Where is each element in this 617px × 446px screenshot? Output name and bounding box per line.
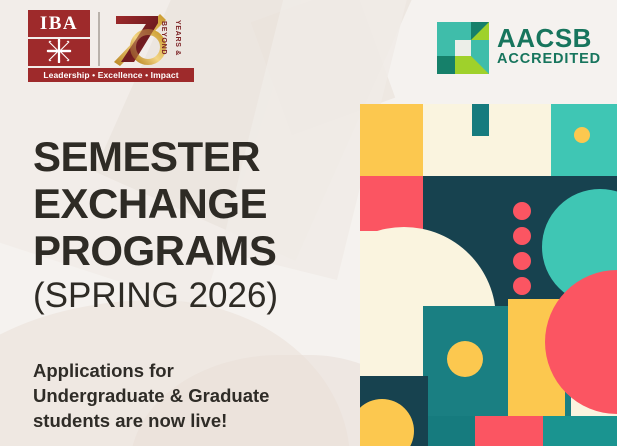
iba-letters: IBA <box>40 14 78 33</box>
iba-tagline: Leadership • Excellence • Impact <box>28 68 194 82</box>
aacsb-text-block: AACSB ACCREDITED <box>497 25 601 68</box>
geometric-collage-artwork <box>360 104 617 446</box>
headline-block: SEMESTER EXCHANGE PROGRAMS (SPRING 2026) <box>33 133 353 318</box>
aacsb-title: AACSB <box>497 25 601 51</box>
collage-shape-yellow-circle-mid <box>447 341 483 377</box>
headline-term-label: (SPRING 2026) <box>33 274 353 318</box>
collage-shape-teal-bottom-right <box>543 416 617 446</box>
aacsb-subtitle: ACCREDITED <box>497 51 601 68</box>
aacsb-square-mark-icon <box>437 22 489 74</box>
collage-shape-teal-small-vertical <box>472 104 489 136</box>
iba-logo-box: IBA <box>28 10 90 66</box>
iba-letters-cell: IBA <box>28 10 90 39</box>
collage-shape-teal-bottom-strip <box>428 416 475 446</box>
collage-shape-coral-dot-3 <box>513 252 531 270</box>
iba-emblem-cell <box>28 39 90 68</box>
collage-shape-coral-dot-2 <box>513 227 531 245</box>
headline-line-3: PROGRAMS <box>33 227 353 274</box>
collage-shape-coral-dot-1 <box>513 202 531 220</box>
logo-divider <box>98 12 100 66</box>
anniversary-years-text: YEARS & BEYOND <box>170 11 184 66</box>
poster-canvas: IBA <box>0 0 617 446</box>
headline-line-1: SEMESTER <box>33 133 353 180</box>
collage-shape-yellow-top-left <box>360 104 423 176</box>
iba-star-emblem-icon <box>46 39 72 68</box>
collage-shape-yellow-dot-small <box>574 127 590 143</box>
headline-line-2: EXCHANGE <box>33 180 353 227</box>
body-copy-block: Applications for Undergraduate & Graduat… <box>33 358 343 433</box>
body-copy-line-2: Undergraduate & Graduate <box>33 383 343 408</box>
body-copy-line-3: students are now live! <box>33 408 343 433</box>
iba-logo: IBA <box>28 10 196 82</box>
aacsb-accredited-badge: AACSB ACCREDITED <box>437 22 602 78</box>
body-copy-line-1: Applications for <box>33 358 343 383</box>
collage-shape-coral-bottom-rect <box>475 416 543 446</box>
collage-shape-coral-dot-4 <box>513 277 531 295</box>
collage-shape-coral-left-band <box>360 176 423 231</box>
